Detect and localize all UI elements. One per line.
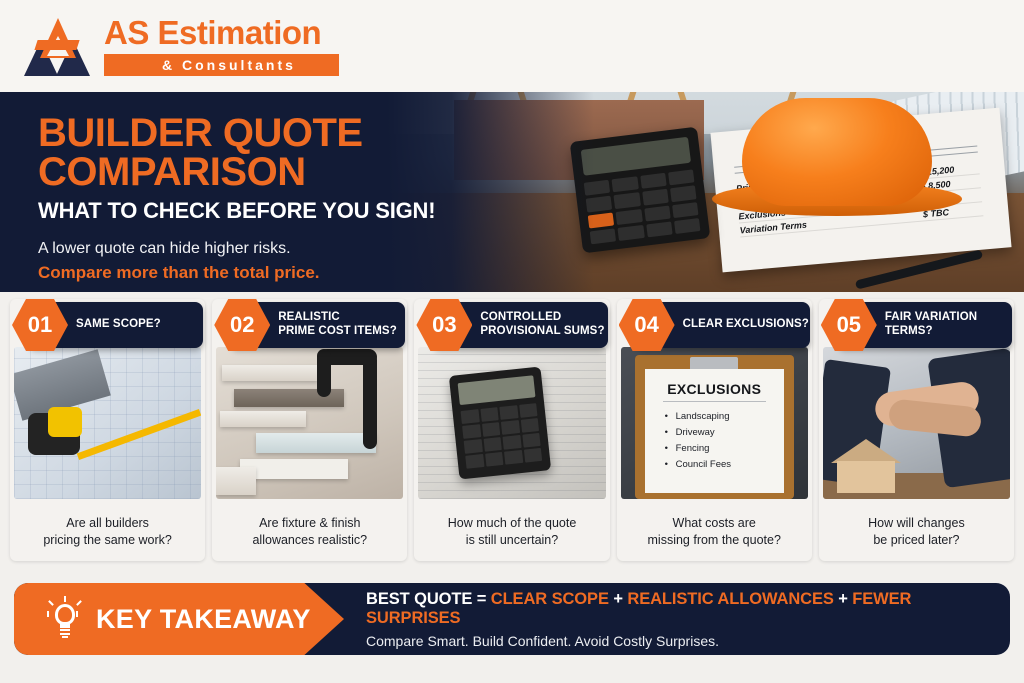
logo-bar: AS Estimation & Consultants xyxy=(0,0,1024,92)
card-title: FAIR VARIATIONTERMS? xyxy=(885,311,977,338)
card-number-badge: 01 xyxy=(12,299,68,351)
key-takeaway-badge: KEY TAKEAWAY xyxy=(14,583,344,655)
card-caption: Are all builderspricing the same work? xyxy=(16,515,199,549)
card-01[interactable]: 01 SAME SCOPE? Are all builderspricing t… xyxy=(10,299,205,561)
card-number-badge: 02 xyxy=(214,299,270,351)
clipboard-item: Driveway xyxy=(665,424,784,440)
hero-title-line2: COMPARISON xyxy=(38,153,478,192)
triangle-logo-icon xyxy=(22,14,92,78)
formula-prefix: BEST QUOTE = xyxy=(366,590,491,608)
card-caption: Are fixture & finishallowances realistic… xyxy=(218,515,401,549)
hero-text-block: BUILDER QUOTE COMPARISON WHAT TO CHECK B… xyxy=(38,114,478,283)
card-02[interactable]: 02 REALISTICPRIME COST ITEMS? Are fixtur… xyxy=(212,299,407,561)
formula-part-2: REALISTIC ALLOWANCES xyxy=(627,590,833,608)
formula-part-1: CLEAR SCOPE xyxy=(491,590,609,608)
card-title: SAME SCOPE? xyxy=(76,318,161,332)
card-header: 02 REALISTICPRIME COST ITEMS? xyxy=(230,302,405,348)
clipboard-item: Fencing xyxy=(665,440,784,456)
card-image: EXCLUSIONS Landscaping Driveway Fencing … xyxy=(621,347,808,499)
card-04[interactable]: 04 CLEAR EXCLUSIONS? EXCLUSIONS Landscap… xyxy=(617,299,812,561)
hard-hat-graphic xyxy=(742,98,932,206)
card-image xyxy=(14,347,201,499)
card-number-badge: 05 xyxy=(821,299,877,351)
hero-body-line1: A lower quote can hide higher risks. xyxy=(38,240,478,258)
card-caption: What costs aremissing from the quote? xyxy=(623,515,806,549)
card-title: REALISTICPRIME COST ITEMS? xyxy=(278,311,397,338)
card-header: 05 FAIR VARIATIONTERMS? xyxy=(837,302,1012,348)
card-title: CLEAR EXCLUSIONS? xyxy=(683,318,809,332)
takeaway-text-block: BEST QUOTE = CLEAR SCOPE + REALISTIC ALL… xyxy=(344,590,1010,649)
card-header: 04 CLEAR EXCLUSIONS? xyxy=(635,302,810,348)
card-title: CONTROLLEDPROVISIONAL SUMS? xyxy=(480,311,604,338)
takeaway-tagline: Compare Smart. Build Confident. Avoid Co… xyxy=(366,633,1010,649)
card-number-badge: 04 xyxy=(619,299,675,351)
checklist-cards: 01 SAME SCOPE? Are all builderspricing t… xyxy=(10,299,1014,561)
hero-body-line2: Compare more than the total price. xyxy=(38,263,478,283)
card-number-badge: 03 xyxy=(416,299,472,351)
hero-section: BUILDERS QUOTE Prime Cost Items $ 15,200… xyxy=(0,92,1024,292)
card-image xyxy=(418,347,605,499)
clipboard-item: Council Fees xyxy=(665,456,784,472)
hero-title-line1: BUILDER QUOTE xyxy=(38,114,478,153)
exclusions-clipboard: EXCLUSIONS Landscaping Driveway Fencing … xyxy=(645,369,784,493)
brand-name: AS Estimation xyxy=(104,16,339,51)
clipboard-item: Landscaping xyxy=(665,408,784,424)
card-header: 01 SAME SCOPE? xyxy=(28,302,203,348)
card-03[interactable]: 03 CONTROLLEDPROVISIONAL SUMS? How much … xyxy=(414,299,609,561)
lightbulb-icon xyxy=(48,599,82,639)
key-takeaway-bar: KEY TAKEAWAY BEST QUOTE = CLEAR SCOPE + … xyxy=(14,583,1010,655)
hero-subtitle: WHAT TO CHECK BEFORE YOU SIGN! xyxy=(38,198,478,224)
formula-plus-1: + xyxy=(609,590,628,608)
formula-plus-2: + xyxy=(834,590,853,608)
brand-tagline: & Consultants xyxy=(104,54,339,76)
key-takeaway-label: KEY TAKEAWAY xyxy=(96,604,311,635)
card-image xyxy=(216,347,403,499)
card-caption: How will changesbe priced later? xyxy=(825,515,1008,549)
card-caption: How much of the quoteis still uncertain? xyxy=(420,515,603,549)
best-quote-formula: BEST QUOTE = CLEAR SCOPE + REALISTIC ALL… xyxy=(366,590,1010,628)
card-image xyxy=(823,347,1010,499)
card-header: 03 CONTROLLEDPROVISIONAL SUMS? xyxy=(432,302,607,348)
clipboard-heading: EXCLUSIONS xyxy=(645,381,784,397)
brand-logo[interactable]: AS Estimation & Consultants xyxy=(22,14,339,78)
card-05[interactable]: 05 FAIR VARIATIONTERMS? How will changes… xyxy=(819,299,1014,561)
